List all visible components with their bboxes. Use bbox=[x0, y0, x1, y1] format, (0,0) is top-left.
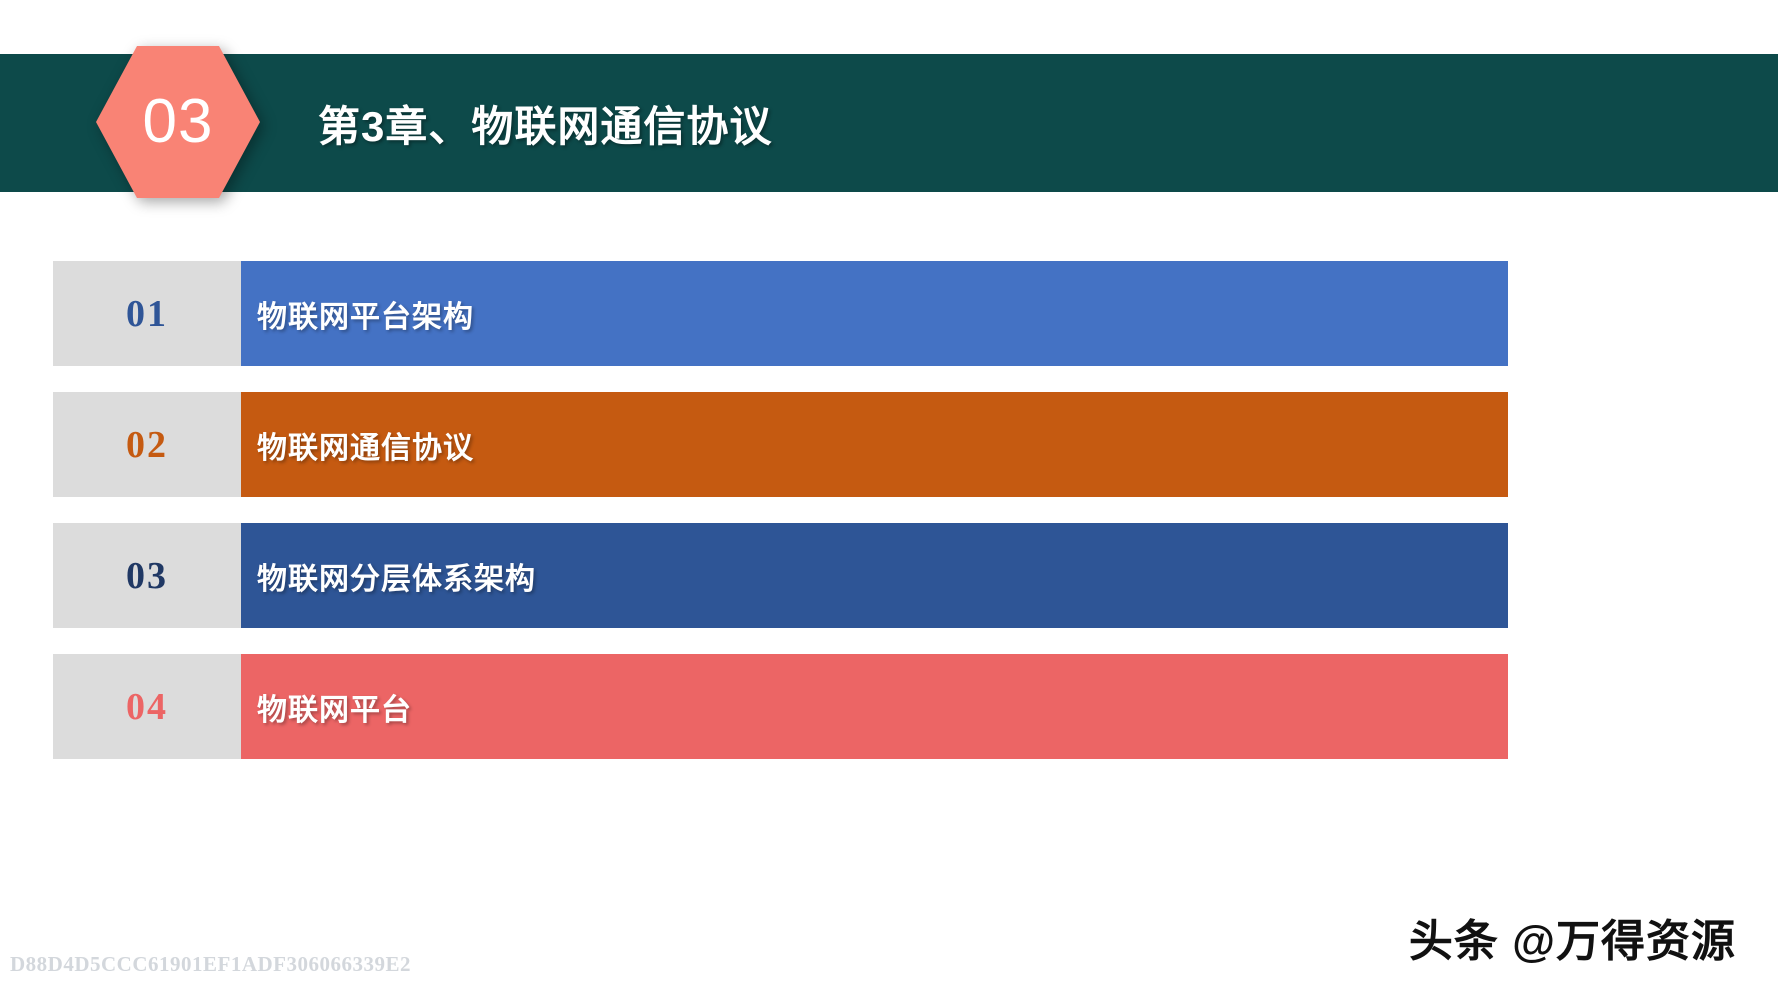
agenda-label: 物联网分层体系架构 bbox=[257, 554, 536, 598]
agenda-label: 物联网平台架构 bbox=[257, 292, 474, 336]
header-band bbox=[0, 54, 1778, 192]
brand-watermark: 头条 @万得资源 bbox=[1409, 905, 1736, 969]
agenda-label: 物联网平台 bbox=[257, 685, 412, 729]
agenda-row[interactable]: 02 物联网通信协议 bbox=[53, 392, 1508, 497]
agenda-label-bar[interactable]: 物联网平台 bbox=[241, 654, 1508, 759]
agenda-number: 02 bbox=[126, 426, 168, 464]
agenda-label-bar[interactable]: 物联网通信协议 bbox=[241, 392, 1508, 497]
agenda-number: 04 bbox=[126, 688, 168, 726]
agenda-row[interactable]: 01 物联网平台架构 bbox=[53, 261, 1508, 366]
agenda-list: 01 物联网平台架构 02 物联网通信协议 03 物联网分层体系架构 bbox=[53, 261, 1508, 759]
slide-title: 第3章、物联网通信协议 bbox=[318, 54, 772, 192]
section-number: 03 bbox=[143, 91, 214, 153]
agenda-row[interactable]: 04 物联网平台 bbox=[53, 654, 1508, 759]
agenda-row[interactable]: 03 物联网分层体系架构 bbox=[53, 523, 1508, 628]
hexagon-shape: 03 bbox=[96, 46, 260, 198]
agenda-number: 03 bbox=[126, 557, 168, 595]
agenda-label-bar[interactable]: 物联网平台架构 bbox=[241, 261, 1508, 366]
agenda-number-cell: 03 bbox=[53, 523, 241, 628]
hash-watermark: D88D4D5CCC61901EF1ADF306066339E2 bbox=[10, 952, 411, 977]
agenda-number-cell: 01 bbox=[53, 261, 241, 366]
section-badge-hexagon: 03 bbox=[96, 46, 260, 198]
presentation-slide: 03 第3章、物联网通信协议 01 物联网平台架构 02 物联网通信协议 03 bbox=[0, 0, 1778, 1000]
agenda-label-bar[interactable]: 物联网分层体系架构 bbox=[241, 523, 1508, 628]
agenda-number: 01 bbox=[126, 295, 168, 333]
agenda-number-cell: 02 bbox=[53, 392, 241, 497]
agenda-label: 物联网通信协议 bbox=[257, 423, 474, 467]
agenda-number-cell: 04 bbox=[53, 654, 241, 759]
